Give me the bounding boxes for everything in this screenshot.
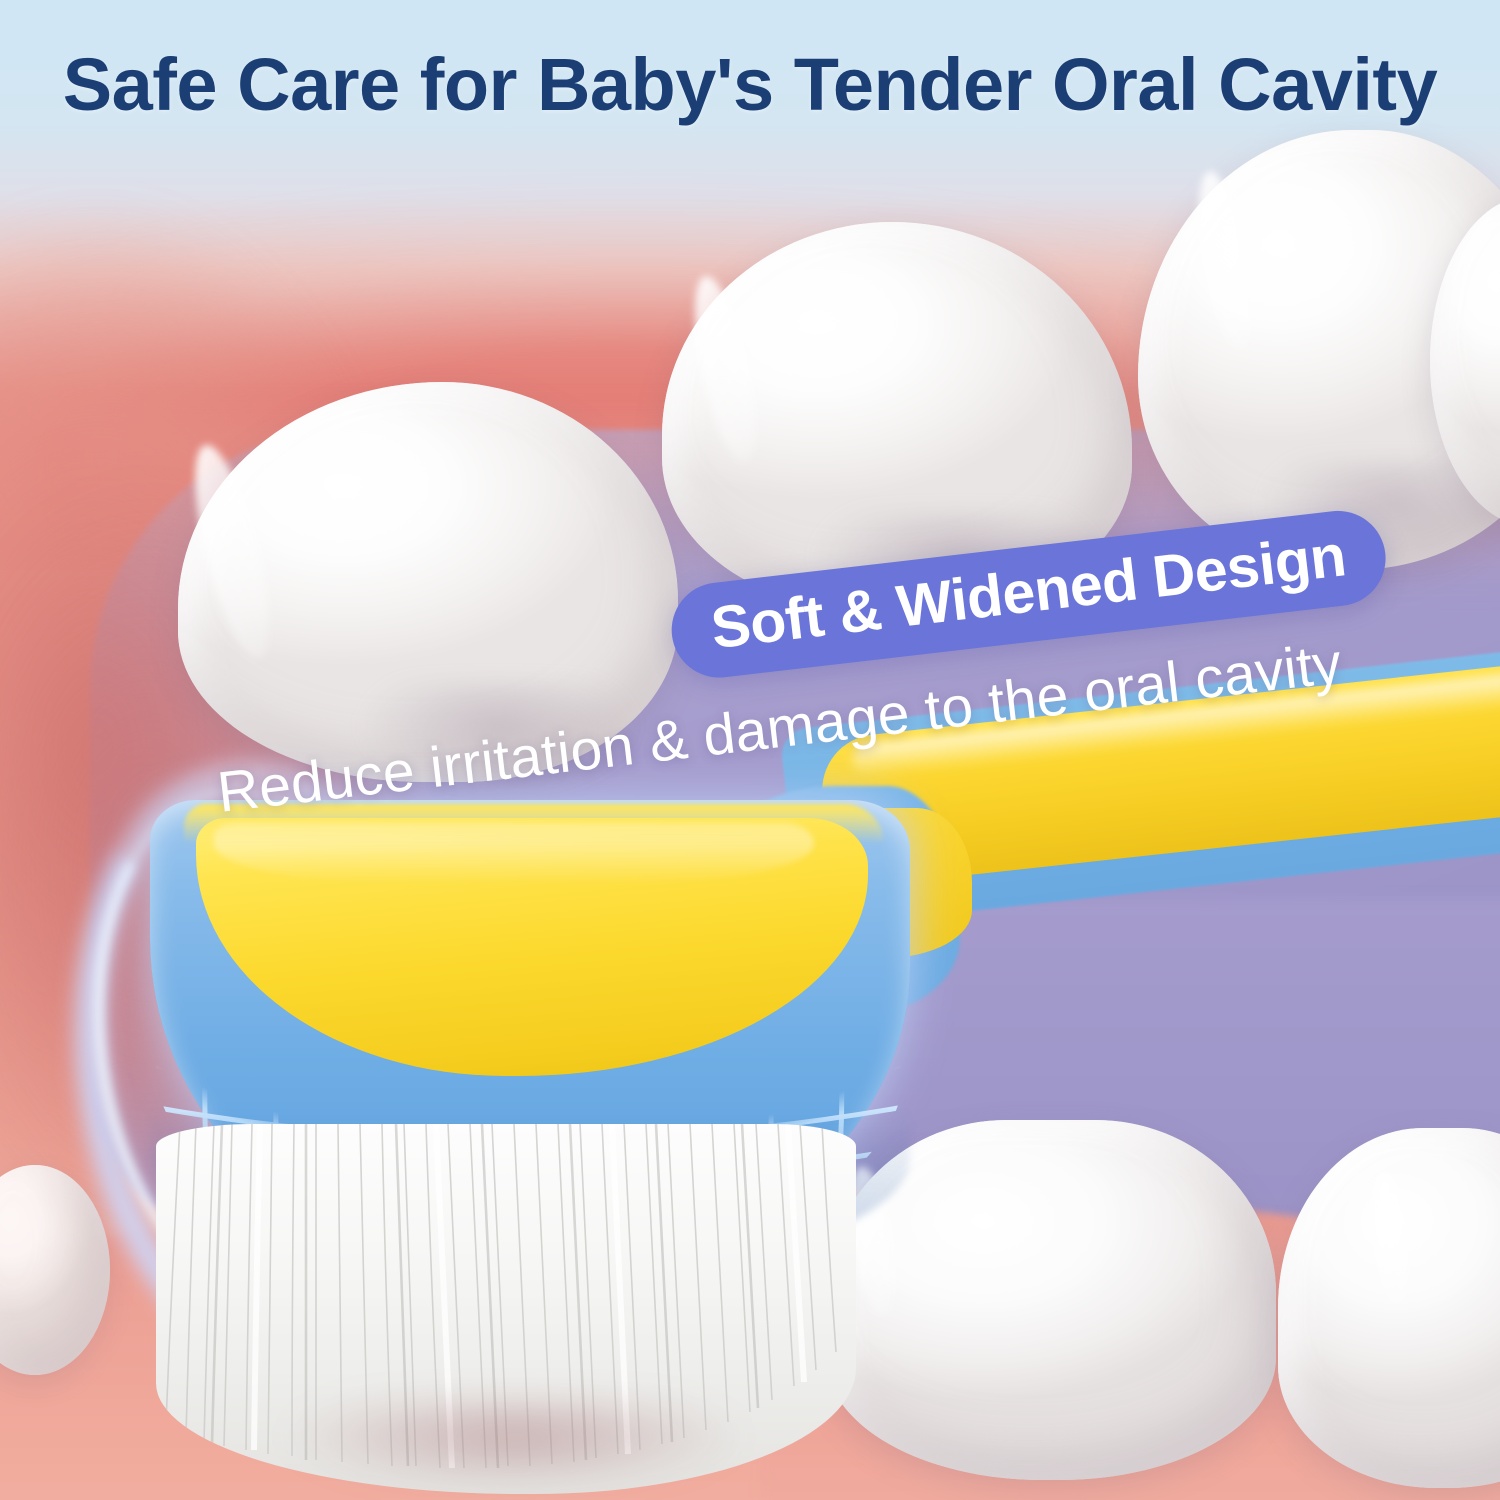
upper-molar-far-right: [1430, 196, 1500, 526]
page-title: Safe Care for Baby's Tender Oral Cavity: [0, 42, 1500, 127]
tooth-enamel: [1430, 196, 1500, 526]
product-marketing-image: Safe Care for Baby's Tender Oral Cavity …: [0, 0, 1500, 1500]
bristle-contact-shadow: [150, 1400, 850, 1500]
